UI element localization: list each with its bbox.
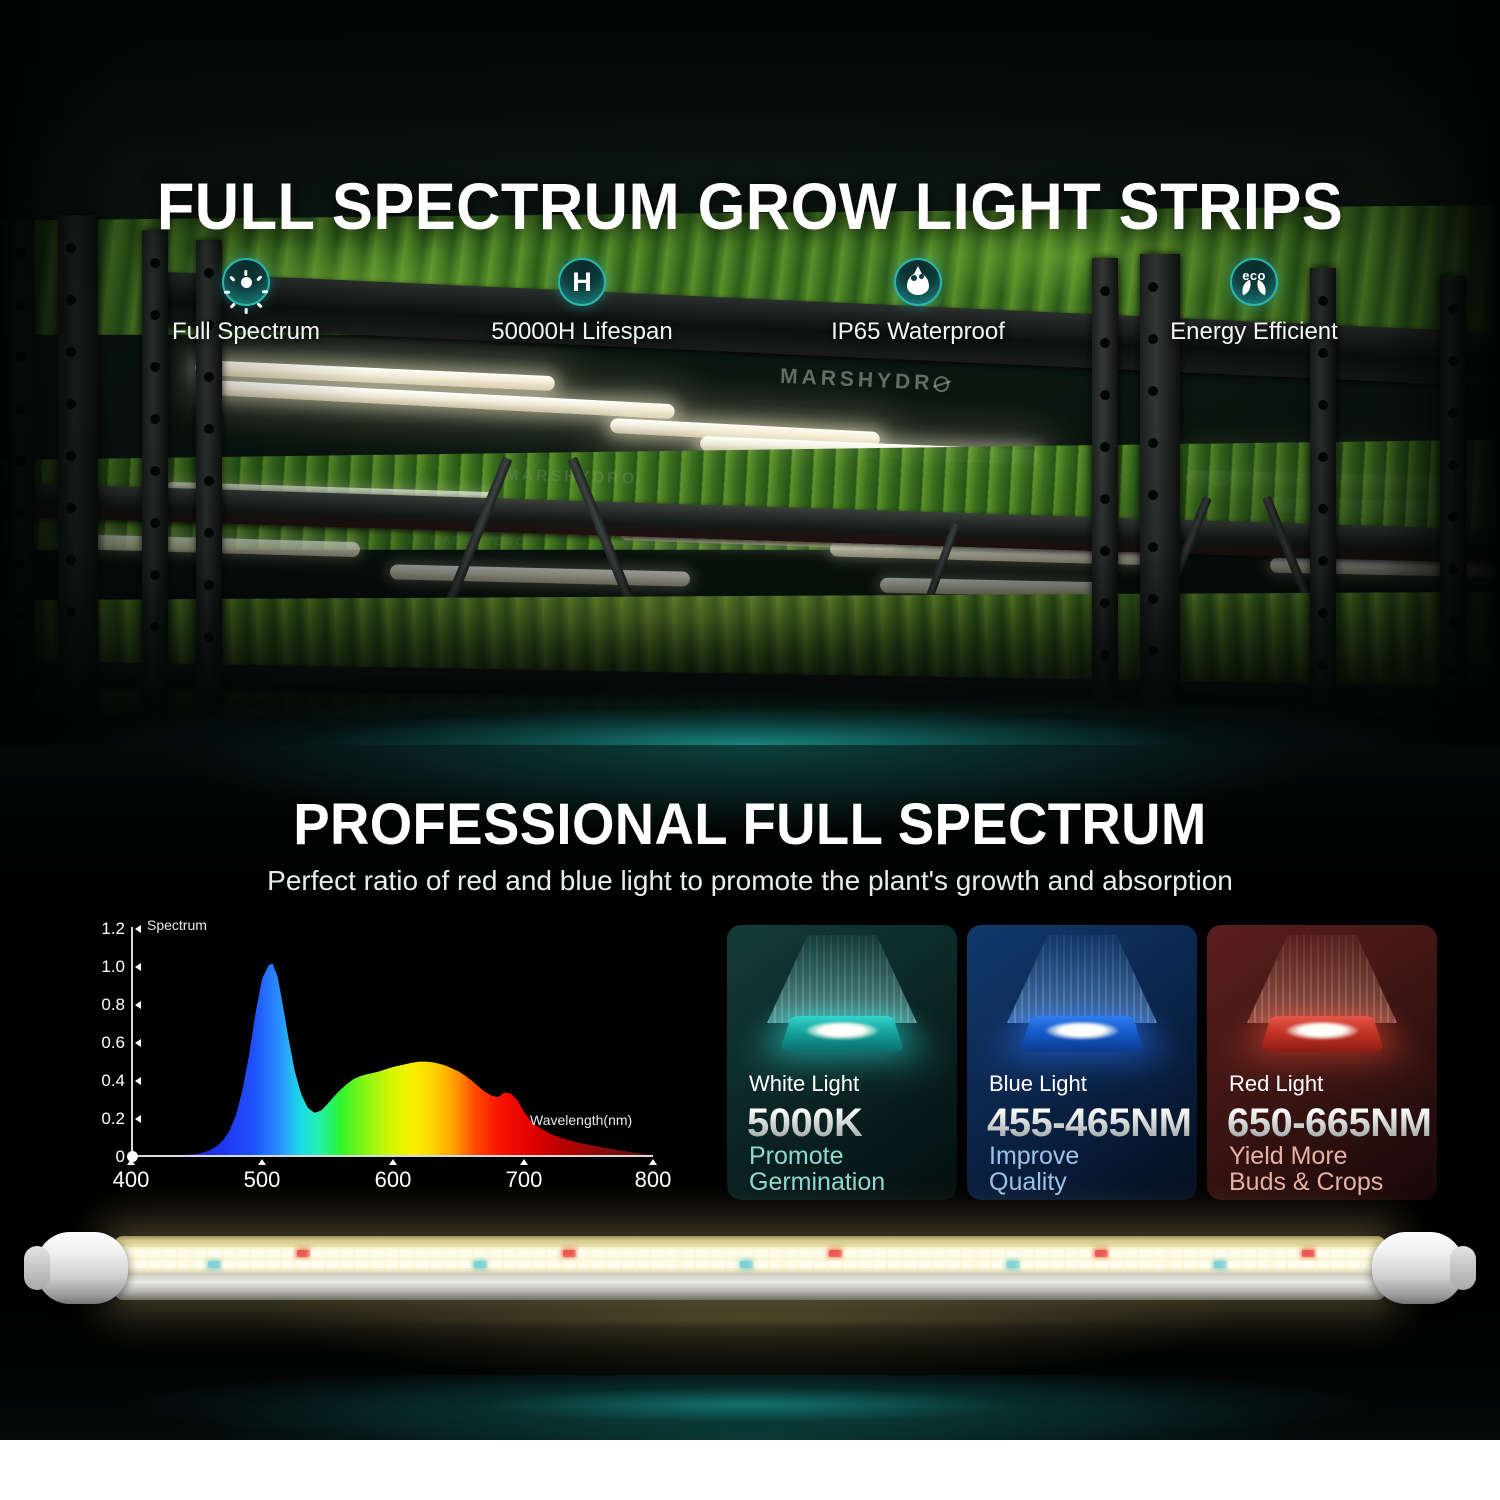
strip-led-diode: [385, 1250, 398, 1257]
strip-led-diode: [933, 1261, 946, 1268]
led-chip-illustration: [739, 931, 945, 1071]
led-chip: [1260, 1016, 1385, 1052]
strip-led-diode: [859, 1261, 872, 1268]
strip-led-diode: [829, 1261, 842, 1268]
strip-led-diode: [903, 1261, 916, 1268]
strip-led-diode: [1273, 1250, 1286, 1257]
strip-led-diode: [1110, 1261, 1123, 1268]
strip-led-diode: [1302, 1250, 1315, 1257]
strip-led-diode: [297, 1250, 310, 1257]
h-icon: H: [572, 269, 592, 296]
strip-led-diode: [297, 1261, 310, 1268]
strip-led-diode: [1154, 1250, 1167, 1257]
strip-led-diode: [1302, 1261, 1315, 1268]
strip-led-diode: [518, 1250, 531, 1257]
strip-led-diode: [533, 1250, 546, 1257]
strip-end-cap-left: [36, 1232, 128, 1304]
strip-led-diode: [208, 1250, 221, 1257]
strip-led-diode: [430, 1250, 443, 1257]
strip-led-diode: [223, 1250, 236, 1257]
x-tick-mark: [127, 1159, 135, 1165]
strip-led-diode: [1317, 1250, 1330, 1257]
strip-led-diode: [578, 1250, 591, 1257]
led-card-red[interactable]: Red Light 650-665NM Yield More Buds & Cr…: [1207, 925, 1437, 1200]
strip-led-diode: [1199, 1261, 1212, 1268]
strip-led-diode: [1095, 1250, 1108, 1257]
strip-led-diode: [1021, 1250, 1034, 1257]
y-tick-label: 0.2: [91, 1109, 125, 1129]
light-beam: [767, 935, 917, 1023]
strip-led-diode: [504, 1250, 517, 1257]
strip-led-diode: [252, 1250, 265, 1257]
strip-led-diode: [607, 1261, 620, 1268]
strip-led-diode: [134, 1261, 147, 1268]
strip-led-diode: [888, 1250, 901, 1257]
sun-icon: [233, 269, 259, 295]
led-card-benefit: Promote Germination: [749, 1143, 885, 1195]
led-card-white[interactable]: White Light 5000K Promote Germination: [727, 925, 957, 1200]
strip-led-diode: [962, 1261, 975, 1268]
strip-led-diode: [637, 1250, 650, 1257]
feature-label: 50000H Lifespan: [491, 318, 672, 346]
page-title: FULL SPECTRUM GROW LIGHT STRIPS: [53, 168, 1448, 244]
strip-led-diode: [1036, 1261, 1049, 1268]
y-tick-label: 1.2: [91, 919, 125, 939]
y-tick-mark: [135, 963, 141, 971]
y-tick-mark: [135, 1077, 141, 1085]
strip-led-diode: [518, 1261, 531, 1268]
strip-led-diode: [1228, 1250, 1241, 1257]
led-card-blue[interactable]: Blue Light 455-465NM Improve Quality: [967, 925, 1197, 1200]
strip-led-diode: [888, 1261, 901, 1268]
strip-led-diode: [873, 1250, 886, 1257]
strip-led-diode: [681, 1261, 694, 1268]
spectrum-chart: 1.2 1.0 0.8 0.6 0.4 0.2 0 400 500 600 70…: [95, 923, 665, 1193]
strip-led-diode: [267, 1261, 280, 1268]
y-tick-mark: [135, 925, 141, 933]
strip-led-diode: [1199, 1250, 1212, 1257]
strip-led-diode: [607, 1250, 620, 1257]
led-card-value: 5000K: [747, 1101, 862, 1146]
strip-led-diode: [1021, 1261, 1034, 1268]
strip-led-diode: [1184, 1261, 1197, 1268]
light-beam: [1007, 935, 1157, 1023]
strip-led-diode: [489, 1261, 502, 1268]
strip-led-diode: [681, 1250, 694, 1257]
x-tick-mark: [258, 1159, 266, 1165]
strip-led-diode: [400, 1250, 413, 1257]
strip-led-diode: [770, 1261, 783, 1268]
strip-led-diode: [785, 1250, 798, 1257]
x-tick-mark: [520, 1159, 528, 1165]
strip-led-diode: [444, 1261, 457, 1268]
strip-led-diode: [163, 1250, 176, 1257]
y-tick-label: 0: [91, 1147, 125, 1167]
strip-led-diode: [652, 1250, 665, 1257]
strip-led-diode: [474, 1250, 487, 1257]
strip-led-diode: [1258, 1250, 1271, 1257]
y-tick-label: 0.6: [91, 1033, 125, 1053]
strip-led-diode: [371, 1250, 384, 1257]
feature-badges: Full Spectrum H 50000H Lifespan IP65 Wat…: [0, 258, 1500, 346]
strip-led-diode: [1080, 1261, 1093, 1268]
bottom-white-margin: [0, 1440, 1500, 1500]
led-chip-illustration: [1219, 931, 1425, 1071]
strip-led-diode: [178, 1250, 191, 1257]
strip-led-diode: [1169, 1261, 1182, 1268]
feature-icon-badge: [222, 258, 270, 306]
strip-led-diode: [1095, 1261, 1108, 1268]
led-card-title: White Light: [749, 1071, 859, 1097]
strip-led-diode: [223, 1261, 236, 1268]
feature-waterproof: IP65 Waterproof: [793, 258, 1043, 346]
strip-led-diode: [134, 1250, 147, 1257]
strip-led-diode: [282, 1261, 295, 1268]
strip-led-diode: [1169, 1250, 1182, 1257]
strip-led-diode: [666, 1250, 679, 1257]
strip-led-diode: [193, 1250, 206, 1257]
eco-leaf-icon: eco: [1239, 269, 1269, 295]
water-drop-icon: [907, 269, 929, 295]
strip-led-diode: [933, 1250, 946, 1257]
product-shadow: [120, 1308, 1380, 1330]
strip-led-diode: [592, 1250, 605, 1257]
y-tick-label: 1.0: [91, 957, 125, 977]
strip-led-diode: [415, 1250, 428, 1257]
strip-led-diode: [504, 1261, 517, 1268]
strip-led-diode: [1066, 1250, 1079, 1257]
strip-led-diode: [622, 1261, 635, 1268]
strip-led-diode: [356, 1261, 369, 1268]
hero-edge-fade-left: [0, 0, 120, 745]
strip-led-diode: [341, 1250, 354, 1257]
strip-led-diode: [622, 1250, 635, 1257]
strip-led-diode: [237, 1261, 250, 1268]
strip-led-diode: [844, 1261, 857, 1268]
chart-y-axis: [131, 927, 133, 1157]
strip-led-diode: [696, 1261, 709, 1268]
strip-led-diode: [1214, 1250, 1227, 1257]
strip-led-diode: [814, 1250, 827, 1257]
strip-led-diode: [548, 1250, 561, 1257]
feature-lifespan: H 50000H Lifespan: [457, 258, 707, 346]
strip-led-diode: [755, 1250, 768, 1257]
feature-full-spectrum: Full Spectrum: [121, 258, 371, 346]
strip-led-diode: [400, 1261, 413, 1268]
strip-led-diode: [652, 1261, 665, 1268]
strip-led-diode: [918, 1250, 931, 1257]
strip-led-diode: [311, 1250, 324, 1257]
strip-led-diode: [873, 1261, 886, 1268]
strip-led-diode: [740, 1261, 753, 1268]
strip-led-diode: [799, 1261, 812, 1268]
led-chip-illustration: [979, 931, 1185, 1071]
strip-led-diode: [1288, 1250, 1301, 1257]
strip-led-diode: [755, 1261, 768, 1268]
strip-led-diode: [977, 1261, 990, 1268]
led-card-benefit: Yield More Buds & Crops: [1229, 1143, 1383, 1195]
x-tick-mark: [649, 1159, 657, 1165]
strip-led-diode: [563, 1250, 576, 1257]
strip-led-diode: [1154, 1261, 1167, 1268]
section-title: PROFESSIONAL FULL SPECTRUM: [45, 791, 1455, 858]
x-tick-mark: [389, 1159, 397, 1165]
section-subtitle: Perfect ratio of red and blue light to p…: [0, 865, 1500, 897]
strip-led-array: [114, 1247, 1386, 1273]
strip-led-diode: [178, 1261, 191, 1268]
feature-label: IP65 Waterproof: [831, 318, 1005, 346]
strip-led-diode: [726, 1261, 739, 1268]
strip-led-diode: [977, 1250, 990, 1257]
strip-led-diode: [311, 1261, 324, 1268]
strip-led-diode: [548, 1261, 561, 1268]
strip-led-diode: [193, 1261, 206, 1268]
strip-led-diode: [1184, 1250, 1197, 1257]
strip-led-diode: [415, 1261, 428, 1268]
strip-led-diode: [1110, 1250, 1123, 1257]
strip-led-diode: [149, 1250, 162, 1257]
hero-section: MARSHYDR MARSHYDRO MARSHYDRO: [0, 0, 1500, 745]
strip-led-diode: [385, 1261, 398, 1268]
strip-led-diode: [326, 1250, 339, 1257]
strip-led-diode: [1317, 1261, 1330, 1268]
y-tick-mark: [135, 1001, 141, 1009]
led-chip: [1020, 1016, 1145, 1052]
strip-led-diode: [1347, 1250, 1360, 1257]
feature-icon-badge: [894, 258, 942, 306]
strip-led-diode: [1051, 1261, 1064, 1268]
strip-led-diode: [666, 1261, 679, 1268]
feature-energy-efficient: eco Energy Efficient: [1129, 258, 1379, 346]
strip-led-diode: [489, 1250, 502, 1257]
strip-led-diode: [1243, 1261, 1256, 1268]
led-card-value: 455-465NM: [987, 1101, 1192, 1146]
led-chip: [780, 1016, 905, 1052]
strip-led-diode: [1125, 1250, 1138, 1257]
led-card-value: 650-665NM: [1227, 1101, 1432, 1146]
strip-led-diode: [1332, 1261, 1345, 1268]
strip-led-diode: [267, 1250, 280, 1257]
strip-led-diode: [1332, 1250, 1345, 1257]
strip-led-diode: [208, 1261, 221, 1268]
strip-led-diode: [563, 1261, 576, 1268]
feature-icon-badge: H: [558, 258, 606, 306]
strip-led-diode: [1080, 1250, 1093, 1257]
strip-led-diode: [356, 1250, 369, 1257]
feature-label: Full Spectrum: [172, 318, 320, 346]
product-infographic: MARSHYDR MARSHYDRO MARSHYDRO: [0, 0, 1500, 1500]
strip-led-diode: [726, 1250, 739, 1257]
strip-led-diode: [341, 1261, 354, 1268]
strip-led-diode: [1066, 1261, 1079, 1268]
strip-led-diode: [1258, 1261, 1271, 1268]
chart-x-axis: [131, 1155, 653, 1157]
strip-led-diode: [1347, 1261, 1360, 1268]
hero-edge-fade-right: [1380, 0, 1500, 745]
strip-led-diode: [252, 1261, 265, 1268]
feature-label: Energy Efficient: [1170, 318, 1338, 346]
strip-led-diode: [444, 1250, 457, 1257]
strip-led-diode: [1007, 1261, 1020, 1268]
strip-led-diode: [1243, 1250, 1256, 1257]
strip-led-diode: [1125, 1261, 1138, 1268]
strip-led-diode: [903, 1250, 916, 1257]
strip-led-diode: [459, 1250, 472, 1257]
strip-led-zone: [114, 1247, 1386, 1273]
strip-led-diode: [578, 1261, 591, 1268]
strip-led-diode: [637, 1261, 650, 1268]
strip-led-diode: [163, 1261, 176, 1268]
feature-icon-badge: eco: [1230, 258, 1278, 306]
strip-led-diode: [799, 1250, 812, 1257]
strip-led-diode: [430, 1261, 443, 1268]
hero-vignette: [0, 0, 1500, 745]
strip-led-diode: [1288, 1261, 1301, 1268]
strip-led-diode: [149, 1261, 162, 1268]
led-card-title: Red Light: [1229, 1071, 1323, 1097]
strip-led-diode: [740, 1250, 753, 1257]
strip-led-diode: [829, 1250, 842, 1257]
strip-led-diode: [992, 1261, 1005, 1268]
strip-led-diode: [1214, 1261, 1227, 1268]
light-beam: [1247, 935, 1397, 1023]
strip-led-diode: [859, 1250, 872, 1257]
strip-led-diode: [992, 1250, 1005, 1257]
strip-led-diode: [962, 1250, 975, 1257]
strip-led-diode: [1036, 1250, 1049, 1257]
strip-led-diode: [1051, 1250, 1064, 1257]
strip-led-diode: [844, 1250, 857, 1257]
strip-led-diode: [326, 1261, 339, 1268]
strip-led-diode: [1228, 1261, 1241, 1268]
strip-led-diode: [237, 1250, 250, 1257]
strip-led-diode: [947, 1250, 960, 1257]
led-card-benefit: Improve Quality: [989, 1143, 1079, 1195]
strip-led-diode: [1007, 1250, 1020, 1257]
strip-led-diode: [371, 1261, 384, 1268]
y-tick-label: 0.4: [91, 1071, 125, 1091]
led-light-strip-product: [36, 1232, 1464, 1304]
chart-x-axis-label: Wavelength(nm): [530, 1112, 632, 1128]
strip-led-diode: [770, 1250, 783, 1257]
strip-led-diode: [696, 1250, 709, 1257]
strip-led-diode: [533, 1261, 546, 1268]
strip-led-diode: [947, 1261, 960, 1268]
strip-end-cap-right: [1372, 1232, 1464, 1304]
strip-led-diode: [1273, 1261, 1286, 1268]
strip-led-diode: [711, 1261, 724, 1268]
y-tick-label: 0.8: [91, 995, 125, 1015]
strip-led-diode: [282, 1250, 295, 1257]
strip-led-diode: [918, 1261, 931, 1268]
y-tick-mark: [135, 1115, 141, 1123]
y-tick-mark: [135, 1039, 141, 1047]
strip-led-diode: [592, 1261, 605, 1268]
led-type-cards: White Light 5000K Promote Germination Bl…: [727, 925, 1437, 1200]
strip-led-diode: [785, 1261, 798, 1268]
led-card-title: Blue Light: [989, 1071, 1087, 1097]
strip-led-diode: [474, 1261, 487, 1268]
strip-led-diode: [711, 1250, 724, 1257]
strip-led-diode: [814, 1261, 827, 1268]
strip-led-diode: [1140, 1261, 1153, 1268]
strip-body: [114, 1236, 1386, 1300]
chart-y-axis-label: Spectrum: [147, 917, 207, 933]
strip-led-diode: [1140, 1250, 1153, 1257]
strip-led-diode: [459, 1261, 472, 1268]
